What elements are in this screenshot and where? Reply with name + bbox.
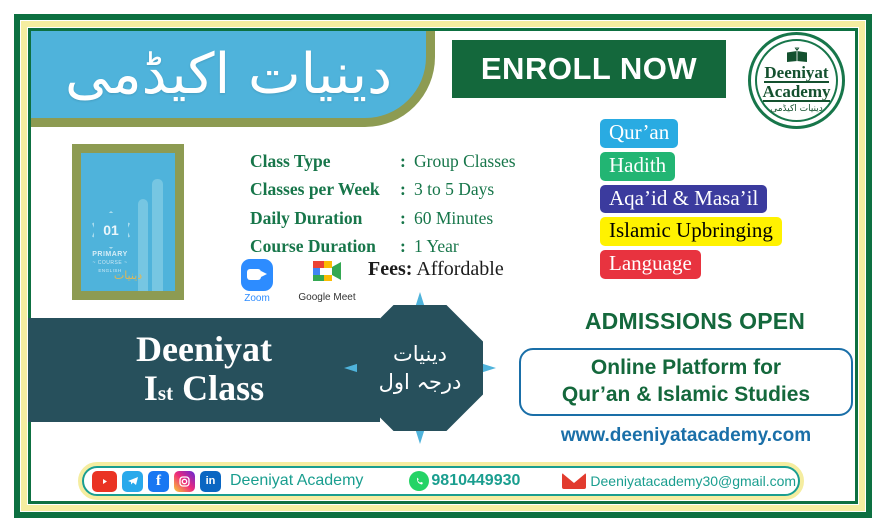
subject-tag: Hadith <box>600 152 675 181</box>
open-book-icon <box>784 47 810 64</box>
banner-line-1: Deeniyat <box>136 331 272 369</box>
academy-logo: Deeniyat Academy دینیات اکیڈمی <box>748 32 845 129</box>
website-link[interactable]: www.deeniyatacademy.com <box>519 425 853 447</box>
detail-row: Classes per Week : 3 to 5 Days <box>250 175 570 203</box>
google-meet-label: Google Meet <box>294 292 360 303</box>
header-arabic-title: دینیات اکیڈمی <box>31 31 426 118</box>
urdu-class-badge: دینیات درجہ اول <box>357 305 483 431</box>
subject-tag: Islamic Upbringing <box>600 217 782 246</box>
admissions-open-text: ADMISSIONS OPEN <box>540 308 850 335</box>
book-urdu: دینیات <box>81 269 175 282</box>
google-meet-icon <box>310 257 344 285</box>
detail-separator: : <box>400 204 414 232</box>
instagram-icon[interactable] <box>174 471 195 492</box>
fees-label: Fees: <box>368 258 412 280</box>
telegram-icon[interactable] <box>122 471 143 492</box>
book-line-1: PRIMARY <box>87 251 133 258</box>
book-number-badge: 01 <box>92 211 130 249</box>
logo-inner-ring: Deeniyat Academy دینیات اکیڈمی <box>755 39 838 122</box>
detail-separator: : <box>400 175 414 203</box>
email-icon[interactable] <box>562 473 586 489</box>
book-line-2: ~ COURSE ~ <box>87 260 133 266</box>
footer-email: Deeniyatacademy30@gmail.com <box>590 473 796 489</box>
subject-tag-list: Qur’an Hadith Aqa’id & Masa’il Islamic U… <box>600 119 850 283</box>
banner-line-2: Ist Class <box>144 369 264 409</box>
zoom-app: Zoom <box>234 259 280 304</box>
footer-contact-bar: f in Deeniyat Academy 9810449930 Deeniya… <box>82 466 800 496</box>
whatsapp-icon[interactable] <box>409 471 429 491</box>
platform-line-1: Online Platform for <box>591 355 781 382</box>
footer-brand-name: Deeniyat Academy <box>230 472 363 490</box>
book-cover-frame: 01 PRIMARY ~ COURSE ~ ENGLISH دینیات <box>72 144 184 300</box>
fees-value: Affordable <box>416 258 503 280</box>
youtube-icon[interactable] <box>92 471 117 492</box>
course-details-table: Class Type : Group Classes Classes per W… <box>250 147 570 260</box>
detail-label: Daily Duration <box>250 204 400 232</box>
book-cover: 01 PRIMARY ~ COURSE ~ ENGLISH دینیات <box>81 153 175 291</box>
header-panel: دینیات اکیڈمی <box>31 31 435 127</box>
badge-line-2: درجہ اول <box>379 368 462 396</box>
detail-value: 3 to 5 Days <box>414 175 570 203</box>
detail-label: Class Type <box>250 147 400 175</box>
logo-line-1: Deeniyat <box>764 64 828 83</box>
google-meet-app: Google Meet <box>294 257 360 303</box>
online-platform-box: Online Platform for Qur’an & Islamic Stu… <box>519 348 853 416</box>
detail-label: Classes per Week <box>250 175 400 203</box>
subject-tag: Qur’an <box>600 119 678 148</box>
banner-ordinal-main: I <box>144 368 158 408</box>
logo-line-2: Academy <box>763 83 831 103</box>
detail-value: Group Classes <box>414 147 570 175</box>
zoom-icon <box>241 259 273 291</box>
logo-urdu: دینیات اکیڈمی <box>770 104 823 114</box>
footer-phone: 9810449930 <box>431 472 520 490</box>
detail-value: 60 Minutes <box>414 204 570 232</box>
banner-ordinal-suffix: st <box>158 381 173 405</box>
facebook-icon[interactable]: f <box>148 471 169 492</box>
detail-separator: : <box>400 232 414 260</box>
social-icon-group: f in <box>92 471 221 492</box>
email-contact: Deeniyatacademy30@gmail.com <box>562 473 796 489</box>
detail-separator: : <box>400 147 414 175</box>
class-banner: Deeniyat Ist Class <box>28 318 380 422</box>
linkedin-icon[interactable]: in <box>200 471 221 492</box>
detail-value: 1 Year <box>414 232 570 260</box>
whatsapp-contact: 9810449930 <box>409 471 520 491</box>
fees-row: Fees: Affordable <box>368 258 504 281</box>
poster-canvas: دینیات اکیڈمی ENROLL NOW Deeniyat Academ… <box>0 0 886 532</box>
banner-class-word: Class <box>182 368 264 408</box>
detail-row: Daily Duration : 60 Minutes <box>250 204 570 232</box>
subject-tag: Language <box>600 250 701 279</box>
badge-line-1: دینیات <box>393 340 447 368</box>
detail-row: Class Type : Group Classes <box>250 147 570 175</box>
platform-line-2: Qur’an & Islamic Studies <box>562 382 810 409</box>
subject-tag: Aqa’id & Masa’il <box>600 185 767 214</box>
enroll-now-button[interactable]: ENROLL NOW <box>452 40 726 98</box>
zoom-label: Zoom <box>234 293 280 304</box>
